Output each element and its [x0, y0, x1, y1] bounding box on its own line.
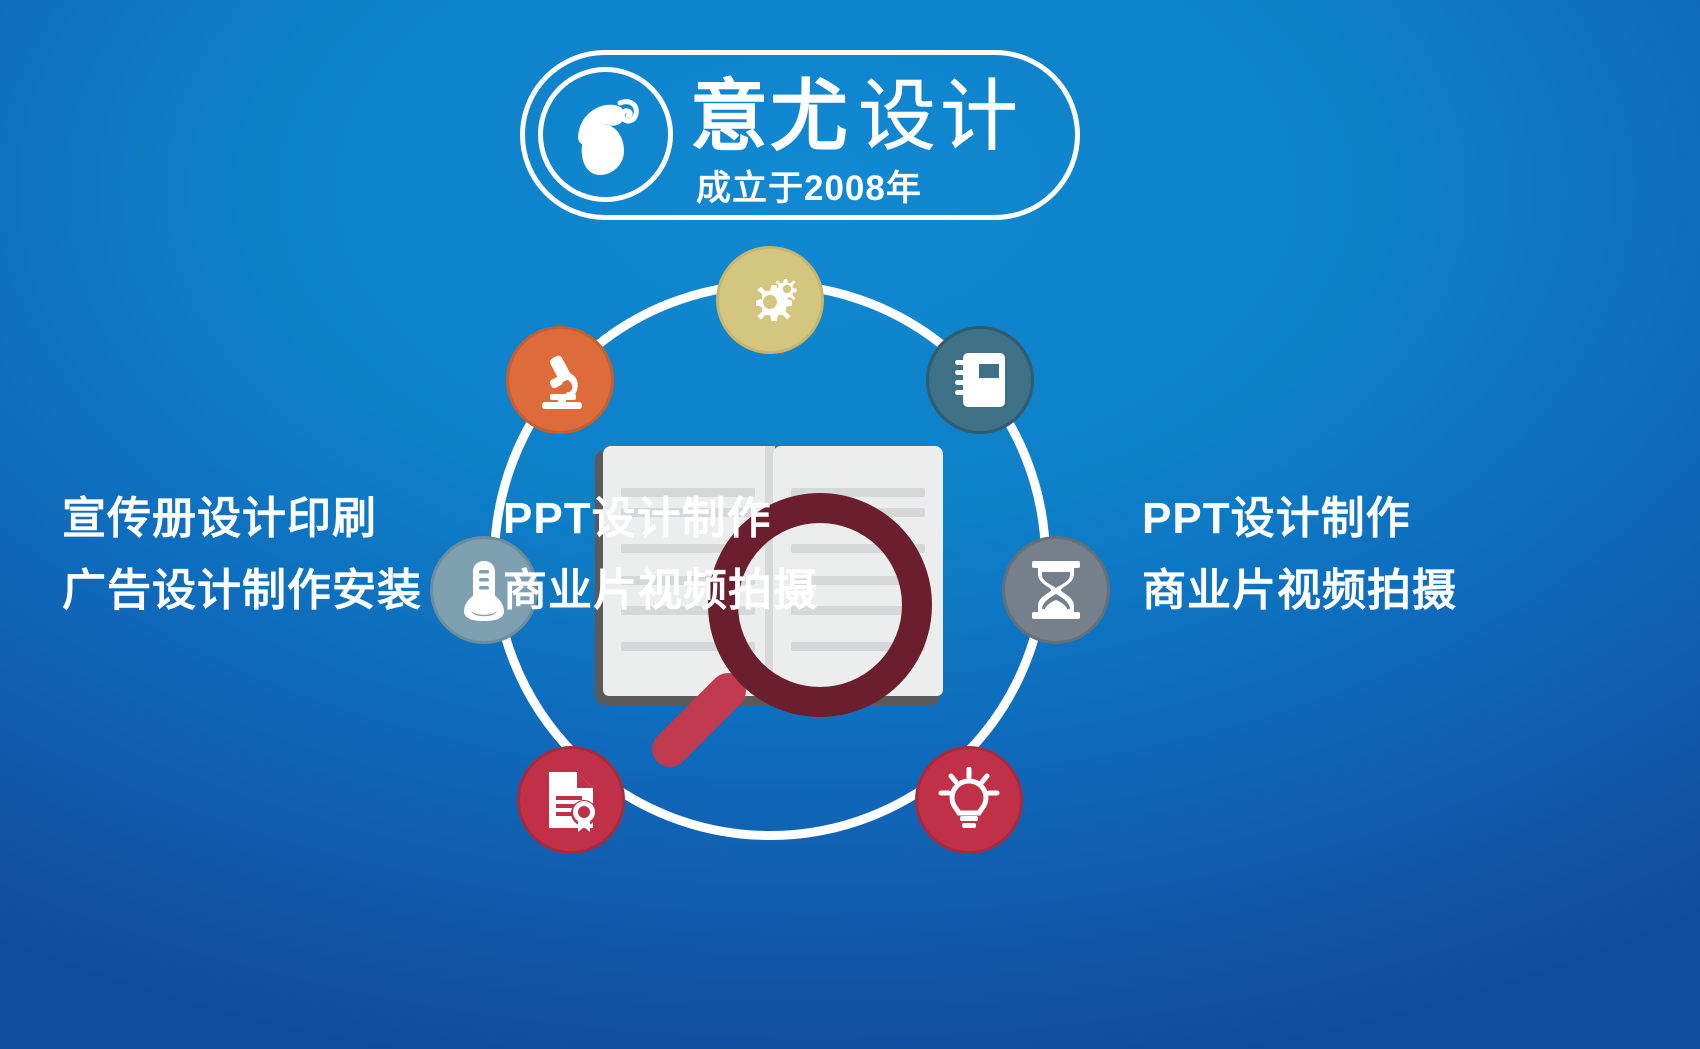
- gears-icon: [739, 269, 801, 331]
- brand-logo: 意尤 设计 成立于2008年: [520, 50, 1080, 220]
- lightbulb-icon: [936, 767, 1002, 833]
- text-right-line2: 商业片视频拍摄: [1142, 555, 1457, 627]
- text-left-line2: 广告设计制作安装: [62, 555, 422, 627]
- logo-tagline: 成立于2008年: [696, 160, 922, 211]
- hourglass-icon: [1028, 558, 1084, 622]
- text-block-right: PPT设计制作 商业片视频拍摄: [1142, 483, 1457, 627]
- slide-canvas: 意尤 设计 成立于2008年: [0, 0, 1700, 1049]
- diagram-node-lightbulb[interactable]: [915, 746, 1023, 854]
- certificate-icon: [542, 768, 600, 832]
- notebook-icon: [951, 349, 1009, 411]
- logo-wordmark: 意尤 设计: [690, 70, 1070, 162]
- text-right-line1: PPT设计制作: [1142, 483, 1457, 555]
- diagram-node-gear[interactable]: [716, 246, 824, 354]
- text-middle-line1: PPT设计制作: [503, 483, 818, 555]
- thermometer-icon: [461, 558, 507, 622]
- diagram-node-notebook[interactable]: [926, 326, 1034, 434]
- logo-name-bold: 意尤: [690, 77, 850, 155]
- microscope-icon: [528, 348, 592, 412]
- logo-name-thin: 设计: [858, 77, 1022, 155]
- diagram-node-microscope[interactable]: [506, 326, 614, 434]
- text-block-middle: PPT设计制作 商业片视频拍摄: [503, 483, 818, 627]
- text-left-line1: 宣传册设计印刷: [62, 483, 422, 555]
- text-middle-line2: 商业片视频拍摄: [503, 555, 818, 627]
- text-block-left: 宣传册设计印刷 广告设计制作安装: [62, 483, 422, 627]
- diagram-node-certificate[interactable]: [517, 746, 625, 854]
- diagram-node-hourglass[interactable]: [1002, 536, 1110, 644]
- pelican-bird-icon: [538, 67, 673, 202]
